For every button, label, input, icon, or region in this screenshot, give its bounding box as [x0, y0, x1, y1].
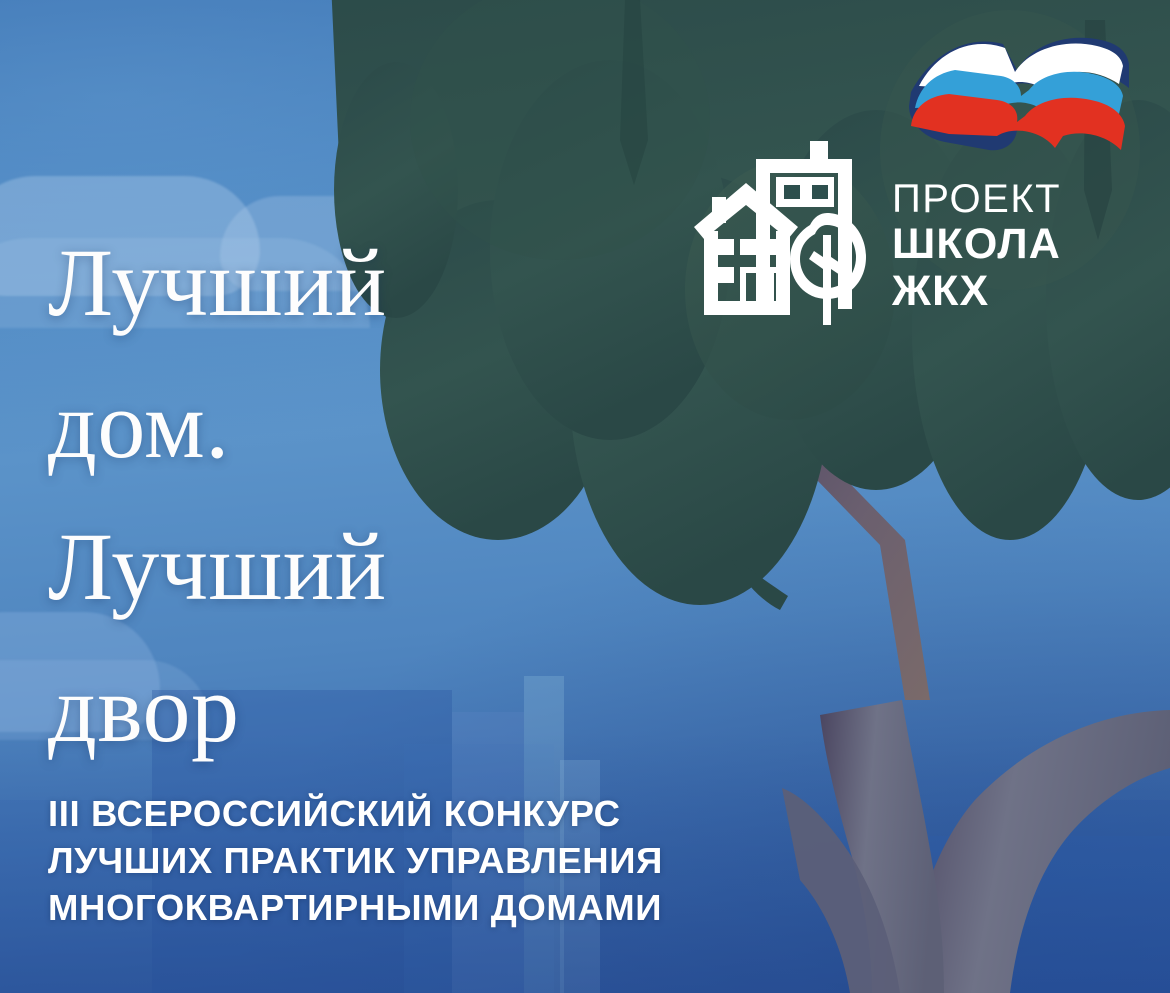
headline-line-4: двор: [48, 638, 668, 780]
logo-wordmark: ПРОЕКТ ШКОЛА ЖКХ: [892, 178, 1061, 314]
subtitle-line-1: III ВСЕРОССИЙСКИЙ КОНКУРС: [48, 790, 878, 837]
logo-line-proekt: ПРОЕКТ: [892, 178, 1061, 221]
headline-line-1: Лучший: [48, 212, 668, 354]
subtitle-line-3: МНОГОКВАРТИРНЫМИ ДОМАМИ: [48, 884, 878, 931]
logo-line-shkola: ШКОЛА: [892, 221, 1061, 267]
headline-line-2: дом.: [48, 354, 668, 496]
logo-line-zhkh: ЖКХ: [892, 268, 1061, 314]
project-logo: ПРОЕКТ ШКОЛА ЖКХ: [690, 30, 1130, 330]
russian-flag-ribbon-icon: [905, 30, 1130, 155]
subtitle-line-2: ЛУЧШИХ ПРАКТИК УПРАВЛЕНИЯ: [48, 837, 878, 884]
poster-canvas: Лучший дом. Лучший двор III ВСЕРОССИЙСКИ…: [0, 0, 1170, 993]
houses-and-tree-icon: [690, 135, 875, 330]
page-title: Лучший дом. Лучший двор: [48, 212, 668, 780]
page-subtitle: III ВСЕРОССИЙСКИЙ КОНКУРС ЛУЧШИХ ПРАКТИК…: [48, 790, 878, 931]
headline-line-3: Лучший: [48, 496, 668, 638]
